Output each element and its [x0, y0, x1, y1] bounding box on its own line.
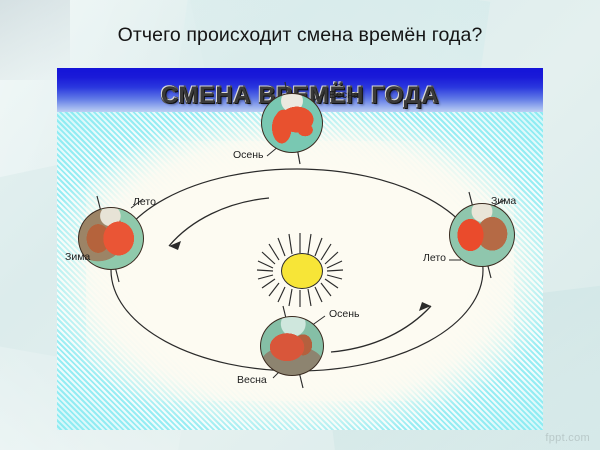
slide-title: Отчего происходит смена времён года?	[0, 24, 600, 47]
earth-globe-bottom	[260, 316, 324, 376]
season-label-left-winter: Зима	[65, 251, 90, 263]
seasons-illustration: СМЕНА ВРЕМЁН ГОДА	[57, 68, 543, 430]
sun-disc	[281, 253, 323, 289]
season-label-top-spring: Весна	[329, 89, 359, 101]
slide-canvas: Отчего происходит смена времён года? СМЕ…	[0, 0, 600, 450]
sun	[263, 233, 337, 307]
earth-globe-top	[261, 93, 323, 153]
earth-globe-right	[449, 203, 515, 267]
orbit-direction-arrow-top	[169, 198, 269, 246]
season-label-bottom-spring: Весна	[237, 374, 267, 386]
season-label-right-winter: Зима	[491, 195, 516, 207]
season-label-left-summer: Лето	[133, 196, 156, 208]
watermark: fppt.com	[545, 432, 590, 444]
orbit-direction-arrowhead-bottom	[419, 302, 431, 311]
season-label-top-autumn: Осень	[233, 149, 264, 161]
season-label-bottom-autumn: Осень	[329, 308, 360, 320]
season-label-right-summer: Лето	[423, 252, 446, 264]
orbit-direction-arrowhead-top	[169, 241, 181, 250]
